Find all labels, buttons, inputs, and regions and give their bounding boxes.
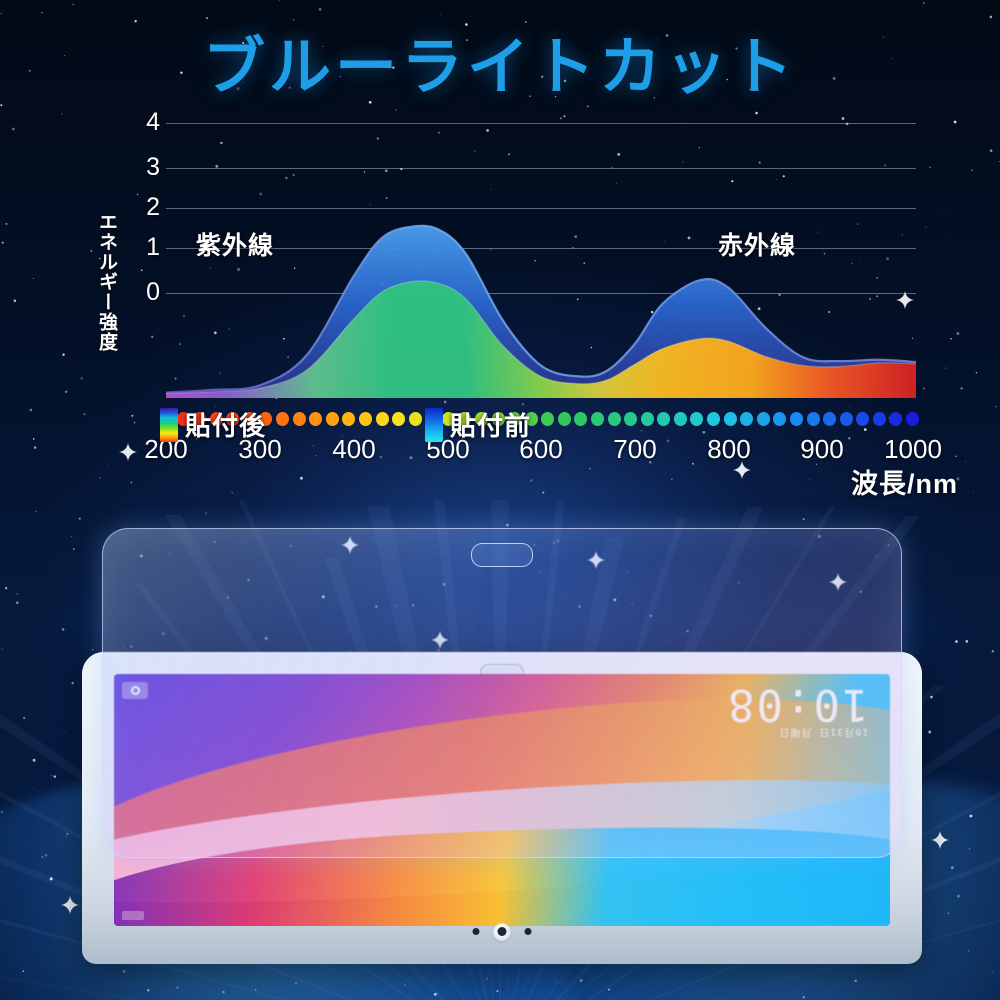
y-tick-3: 3 [134, 153, 160, 182]
spectrum-dot [889, 412, 902, 426]
legend-swatch-before-icon [425, 408, 443, 442]
y-axis-label: エネルギー強度 [86, 212, 116, 352]
y-tick-4: 4 [134, 108, 160, 137]
spectrum-dot [790, 412, 803, 426]
spectrum-dot [823, 412, 836, 426]
spectrum-dot [840, 412, 853, 426]
gridline-3 [166, 168, 916, 169]
x-tick-1000: 1000 [884, 434, 942, 465]
screen-protector-sheet [102, 528, 902, 858]
page-title: ブルーライトカット [0, 16, 1000, 106]
bottom-dots [473, 927, 532, 936]
bottom-dot-2 [498, 927, 507, 936]
chart-curves [166, 218, 916, 398]
legend-label-after: 貼付後 [185, 406, 266, 443]
protector-sheen [102, 528, 494, 858]
spectrum-dot [873, 412, 886, 426]
spectrum-dot [773, 412, 786, 426]
promo-banner: ブルーライトカット エネルギー強度 4 3 2 1 0 [0, 0, 1000, 1000]
bottom-dot-3 [525, 928, 532, 935]
chart-legend: 貼付後 貼付前 [160, 406, 760, 446]
spectrum-dot [807, 412, 820, 426]
ir-annotation: 赤外線 [718, 226, 796, 262]
spectrum-dot [856, 412, 869, 426]
legend-swatch-after-icon [160, 408, 178, 442]
spectrum-chart: エネルギー強度 4 3 2 1 0 [0, 100, 1000, 400]
legend-label-before: 貼付前 [450, 406, 531, 443]
spectrum-dot [906, 412, 919, 426]
y-tick-0: 0 [134, 278, 160, 307]
speaker-cutout-icon [471, 543, 533, 567]
legend-item-before: 貼付前 [425, 406, 531, 443]
uv-annotation: 紫外線 [196, 226, 274, 262]
legend-item-after: 貼付後 [160, 406, 266, 443]
gridline-4 [166, 123, 916, 124]
gridline-2 [166, 208, 916, 209]
signal-icon [122, 911, 144, 920]
x-tick-900: 900 [800, 434, 843, 465]
x-axis-label: 波長/nm [851, 462, 958, 501]
y-tick-1: 1 [134, 233, 160, 262]
y-tick-2: 2 [134, 193, 160, 222]
bottom-dot-1 [473, 928, 480, 935]
